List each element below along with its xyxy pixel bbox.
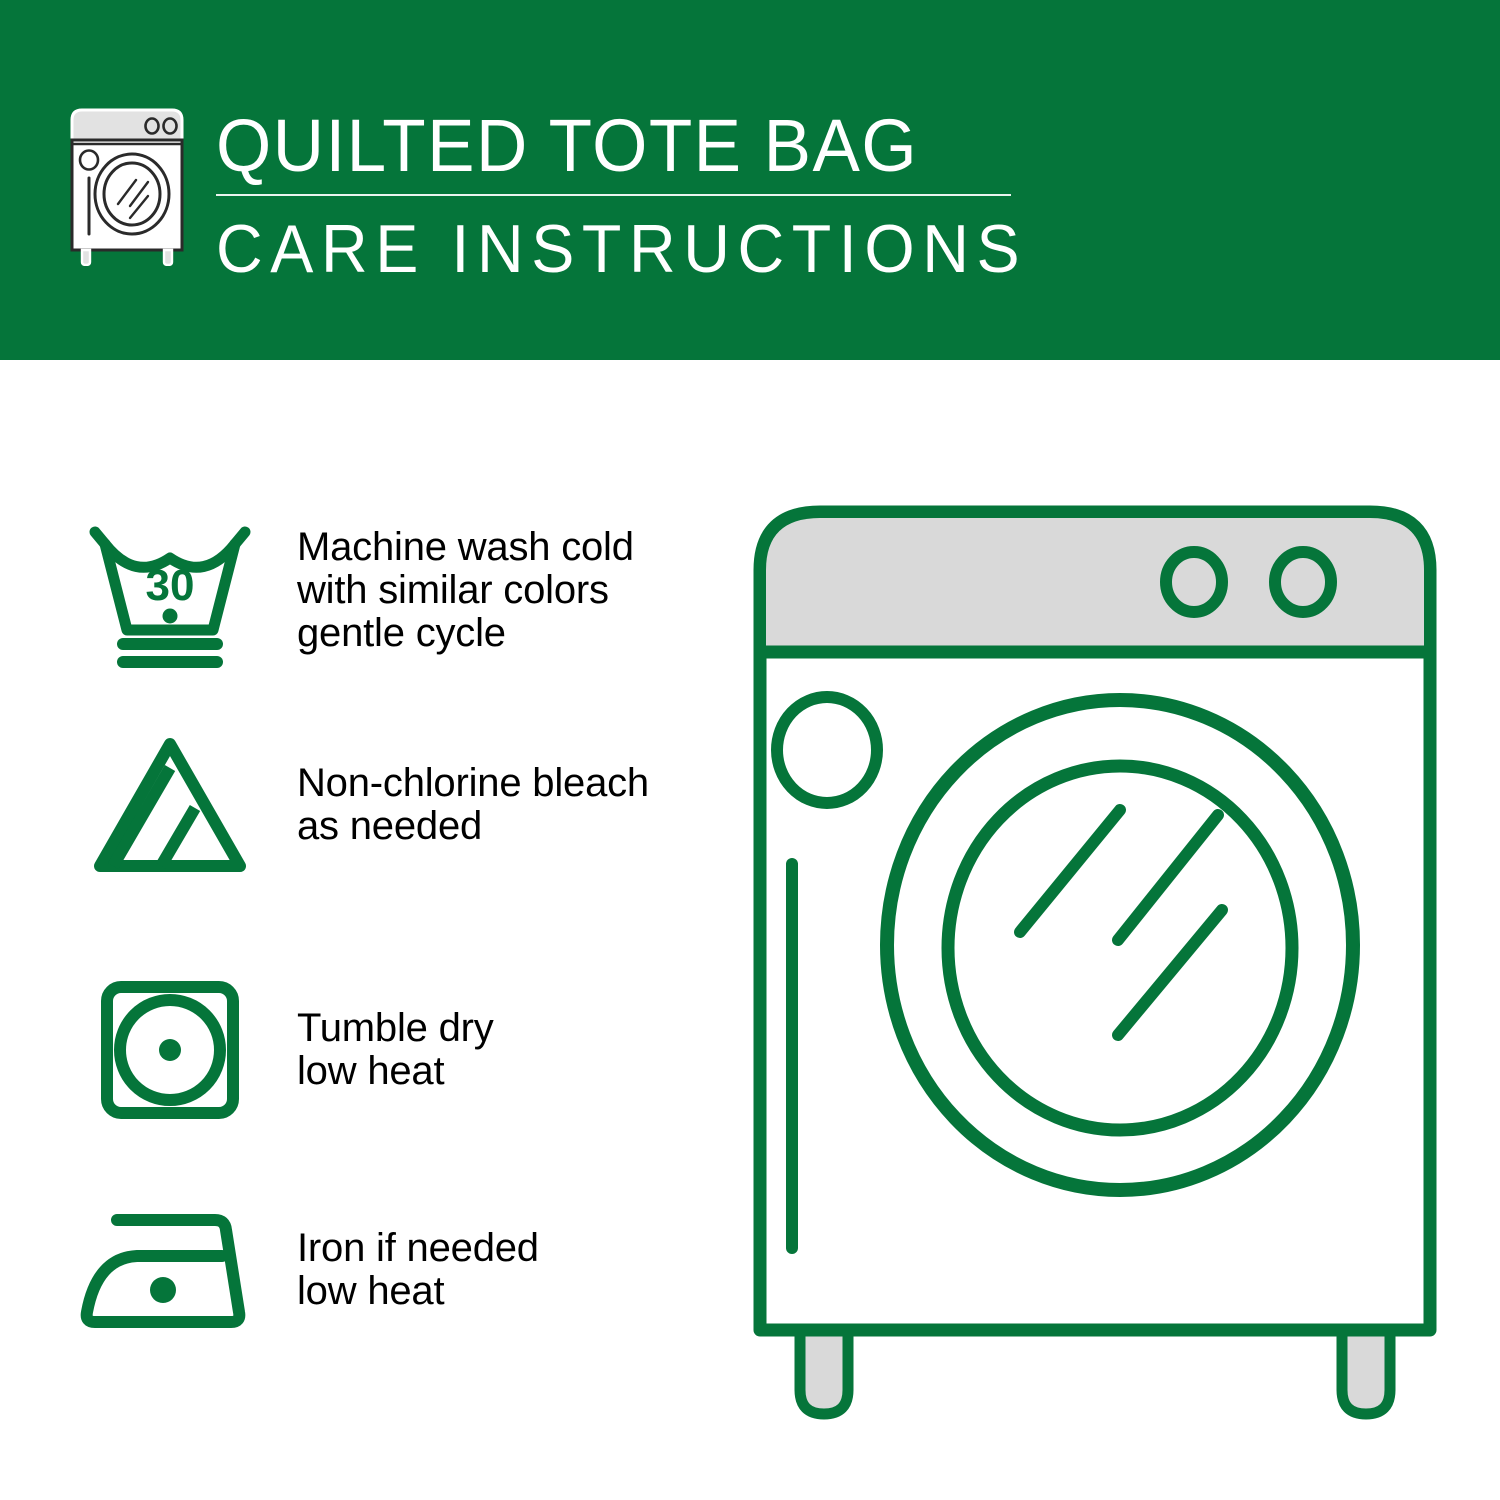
non-chlorine-bleach-triangle-icon: [55, 730, 285, 880]
list-item: 30 Machine wash cold with similar colors…: [0, 500, 740, 680]
page-subtitle: CARE INSTRUCTIONS: [216, 210, 976, 288]
list-item: Iron if needed low heat: [0, 1180, 740, 1360]
care-text-line: Non-chlorine bleach: [297, 762, 740, 805]
care-instruction-text: Machine wash cold with similar colors ge…: [297, 526, 740, 655]
header-text-block: QUILTED TOTE BAG CARE INSTRUCTIONS: [216, 104, 1016, 288]
care-text-line: Tumble dry: [297, 1007, 740, 1050]
list-item: Tumble dry low heat: [0, 960, 740, 1140]
washing-machine-icon: [62, 106, 192, 266]
tumble-dry-low-icon: [55, 975, 285, 1125]
care-instruction-text: Iron if needed low heat: [297, 1227, 740, 1313]
wash-tub-30-gentle-icon: 30: [55, 510, 285, 670]
title-divider: [216, 194, 1011, 196]
page-title: QUILTED TOTE BAG: [216, 104, 984, 188]
wash-temperature-label: 30: [146, 561, 195, 610]
care-text-line: Machine wash cold: [297, 526, 740, 569]
header-band: QUILTED TOTE BAG CARE INSTRUCTIONS: [0, 0, 1500, 360]
care-text-line: as needed: [297, 805, 740, 848]
care-text-line: Iron if needed: [297, 1227, 740, 1270]
list-item: Non-chlorine bleach as needed: [0, 715, 740, 895]
iron-low-heat-icon: [55, 1200, 285, 1340]
care-instruction-text: Non-chlorine bleach as needed: [297, 762, 740, 848]
leg-right: [1342, 1328, 1390, 1414]
care-instruction-list: 30 Machine wash cold with similar colors…: [0, 360, 740, 1500]
care-text-line: low heat: [297, 1270, 740, 1313]
care-instruction-text: Tumble dry low heat: [297, 1007, 740, 1093]
care-text-line: gentle cycle: [297, 612, 740, 655]
care-text-line: low heat: [297, 1050, 740, 1093]
washing-machine-illustration: [730, 470, 1460, 1450]
care-text-line: with similar colors: [297, 569, 740, 612]
care-instructions-infographic: QUILTED TOTE BAG CARE INSTRUCTIONS 30: [0, 0, 1500, 1500]
leg-left: [800, 1328, 848, 1414]
